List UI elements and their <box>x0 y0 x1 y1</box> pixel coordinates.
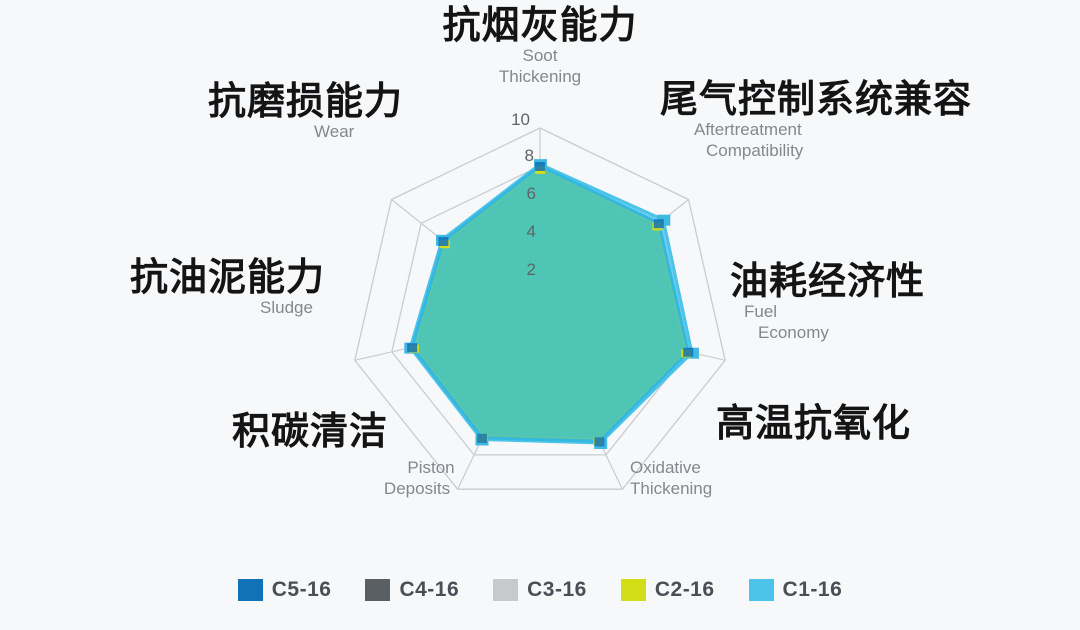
legend-swatch-icon-c1-16 <box>749 579 774 601</box>
axis-label-wear-cn: 抗磨损能力 <box>208 82 458 122</box>
axis-label-piston: 积碳清洁 <box>232 412 512 452</box>
axis-label-aftertreatment-en-1: Aftertreatment <box>660 120 1060 141</box>
legend-swatch-icon-c5-16 <box>238 579 263 601</box>
axis-label-wear-en-1: Wear <box>208 122 458 143</box>
axis-label-soot-en-1: Soot <box>400 46 680 67</box>
axis-label-aftertreatment-en-2: Compatibility <box>660 141 1060 162</box>
vertex-marker-c5-5 <box>407 343 417 352</box>
vertex-marker-c5-2 <box>683 348 693 357</box>
legend-label-c1-16: C1-16 <box>783 578 843 602</box>
axis-label-piston-en-1: Piston <box>300 458 490 479</box>
vertex-marker-c5-0 <box>535 162 545 171</box>
axis-label-fuel-en-1: Fuel <box>730 302 1030 323</box>
legend-item-c4-16[interactable]: C4-16 <box>365 578 459 602</box>
axis-label-sludge: 抗油泥能力 Sludge <box>130 258 410 319</box>
legend-item-c2-16[interactable]: C2-16 <box>621 578 715 602</box>
axis-label-fuel-economy: 油耗经济性 Fuel Economy <box>730 262 1030 344</box>
axis-label-aftertreatment-cn: 尾气控制系统兼容 <box>660 80 1060 120</box>
axis-label-oxidative-en: Oxidative Thickening <box>630 458 890 499</box>
legend-swatch-icon-c3-16 <box>493 579 518 601</box>
vertex-marker-c5-1 <box>654 219 664 228</box>
axis-label-piston-en: Piston Deposits <box>300 458 490 499</box>
axis-label-fuel-en-2: Economy <box>730 323 1030 344</box>
axis-label-soot-cn: 抗烟灰能力 <box>400 6 680 46</box>
vertex-marker-c5-3 <box>594 437 604 446</box>
axis-label-oxidative: 高温抗氧化 <box>716 404 976 444</box>
legend-label-c4-16: C4-16 <box>399 578 459 602</box>
legend-item-c5-16[interactable]: C5-16 <box>238 578 332 602</box>
axis-label-piston-en-2: Deposits <box>300 479 490 500</box>
radar-chart: 10 8 6 4 2 抗烟灰能力 Soot Thickening 尾气控制系统兼… <box>0 0 1080 630</box>
axis-label-oxidative-cn: 高温抗氧化 <box>716 404 976 444</box>
legend-swatch-icon-c4-16 <box>365 579 390 601</box>
axis-label-wear: 抗磨损能力 Wear <box>208 82 458 143</box>
tick-label-8: 8 <box>504 146 534 166</box>
chart-legend: C5-16 C4-16 C3-16 C2-16 C1-16 <box>0 578 1080 602</box>
legend-label-c2-16: C2-16 <box>655 578 715 602</box>
legend-label-c3-16: C3-16 <box>527 578 587 602</box>
vertex-marker-c5-6 <box>438 237 448 246</box>
axis-label-piston-cn: 积碳清洁 <box>232 412 512 452</box>
axis-label-soot: 抗烟灰能力 Soot Thickening <box>400 6 680 88</box>
legend-label-c5-16: C5-16 <box>272 578 332 602</box>
legend-item-c3-16[interactable]: C3-16 <box>493 578 587 602</box>
legend-item-c1-16[interactable]: C1-16 <box>749 578 843 602</box>
axis-label-oxidative-en-2: Thickening <box>630 479 890 500</box>
tick-label-2: 2 <box>506 260 536 280</box>
tick-label-6: 6 <box>506 184 536 204</box>
tick-label-4: 4 <box>506 222 536 242</box>
tick-label-10: 10 <box>500 110 530 130</box>
axis-label-fuel-cn: 油耗经济性 <box>730 262 1030 302</box>
legend-swatch-icon-c2-16 <box>621 579 646 601</box>
axis-label-aftertreatment: 尾气控制系统兼容 Aftertreatment Compatibility <box>660 80 1060 162</box>
axis-label-sludge-cn: 抗油泥能力 <box>130 258 410 298</box>
axis-label-oxidative-en-1: Oxidative <box>630 458 890 479</box>
axis-label-sludge-en-1: Sludge <box>130 298 410 319</box>
